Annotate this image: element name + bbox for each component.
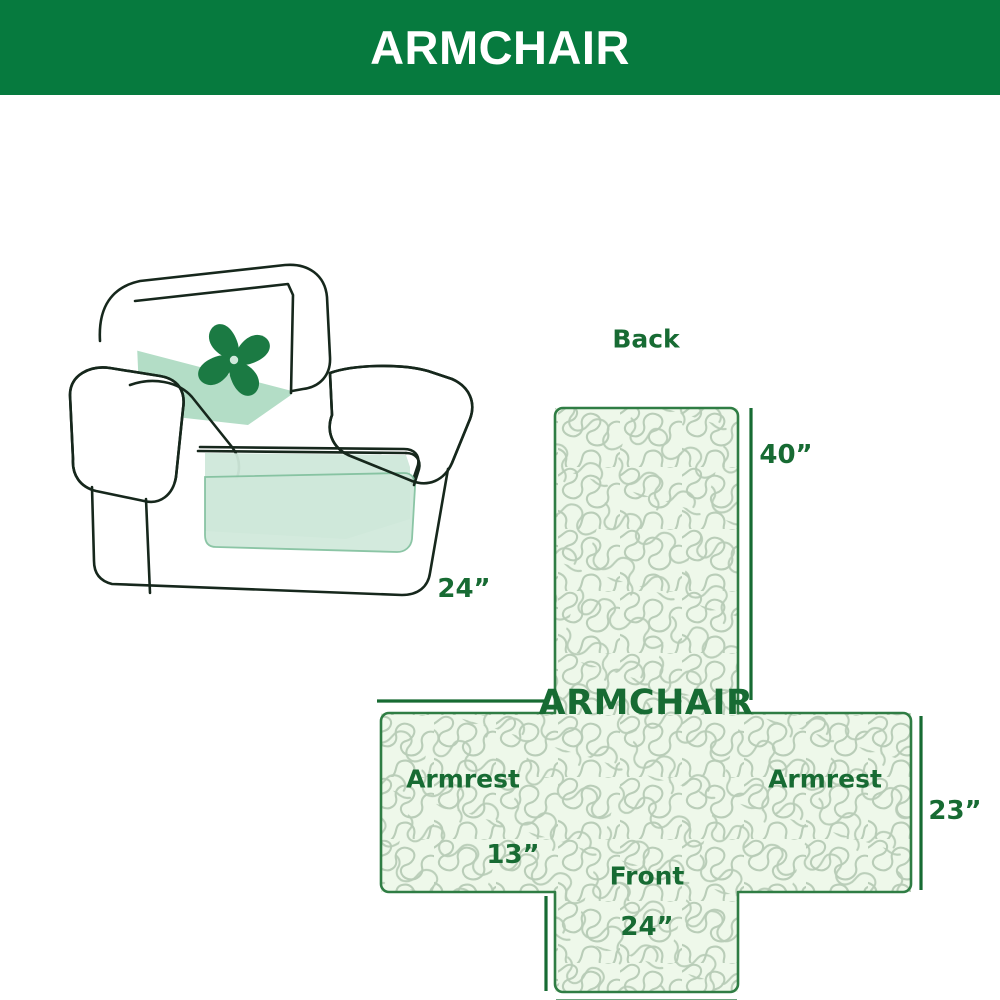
armchair-illustration [70,265,472,595]
dimension-label-arm-height: 23” [928,796,981,826]
dimension-label-front-height: 13” [486,840,539,870]
header-banner: ARMCHAIR [0,0,1000,95]
panel-label-armrest-left: Armrest [406,765,520,794]
chair-armrest-left [70,367,184,501]
dimension-label-front-width: 24” [620,912,673,942]
panel-label-front: Front [610,862,685,891]
chair-seat-skirt [205,473,415,552]
diagram-canvas: Back ARMCHAIR Armrest Armrest Front 40” … [0,95,1000,1000]
panel-label-center: ARMCHAIR [539,683,754,723]
dimension-label-back-height: 40” [759,440,812,470]
panel-label-back: Back [612,325,679,354]
page-title: ARMCHAIR [370,24,630,71]
panel-label-armrest-right: Armrest [768,765,882,794]
dimension-label-back-width: 24” [437,574,490,604]
